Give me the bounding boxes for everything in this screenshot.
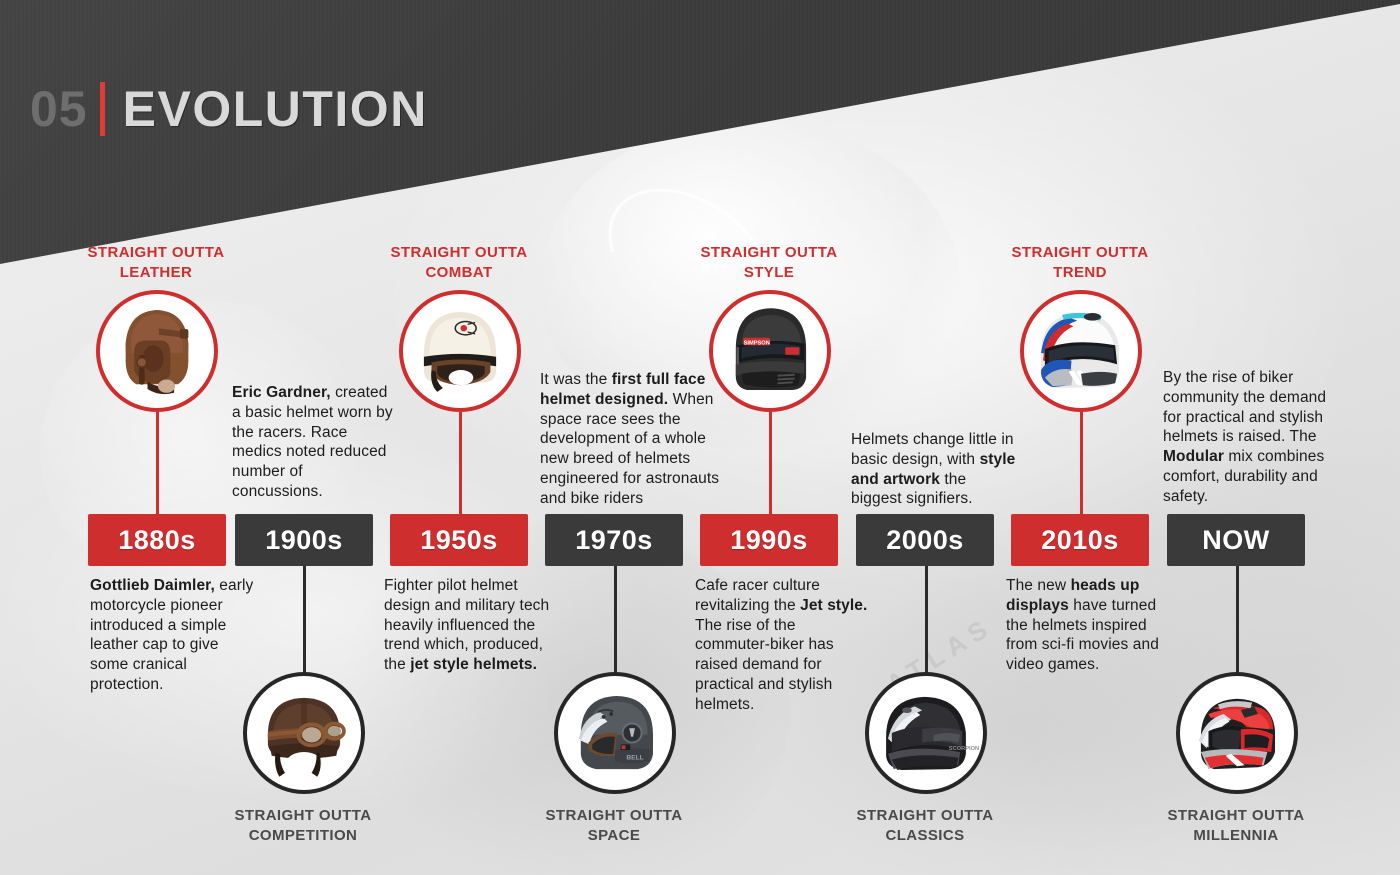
era-1880s[interactable]: 1880s	[88, 514, 226, 566]
paragraph-2010s: The new heads up displays have turned th…	[1006, 576, 1181, 675]
grey-retro-full-face-helmet-icon: BELL	[558, 676, 672, 790]
era-1950s[interactable]: 1950s	[390, 514, 528, 566]
helmet-circle-space[interactable]: BELL	[554, 672, 676, 794]
blue-white-sport-touring-helmet-icon	[1024, 294, 1138, 408]
helmet-circle-millennia[interactable]	[1176, 672, 1298, 794]
top-caption-leather: STRAIGHT OUTTA LEATHER	[56, 243, 256, 282]
page-title: EVOLUTION	[123, 84, 428, 134]
svg-text:BELL: BELL	[626, 755, 643, 762]
connector-trend-to-2010s	[1080, 412, 1083, 514]
svg-text:SCORPION: SCORPION	[949, 746, 979, 752]
connector-now-to-millennia	[1236, 566, 1239, 674]
red-adventure-dual-sport-helmet-icon	[1180, 676, 1294, 790]
era-1990s[interactable]: 1990s	[700, 514, 838, 566]
era-now[interactable]: NOW	[1167, 514, 1305, 566]
bottom-caption-millennia: STRAIGHT OUTTA MILLENNIA	[1136, 806, 1336, 845]
top-caption-combat: STRAIGHT OUTTA COMBAT	[359, 243, 559, 282]
black-sport-full-face-helmet-icon: SCORPION	[869, 676, 983, 790]
era-2000s[interactable]: 2000s	[856, 514, 994, 566]
paragraph-1900s: Eric Gardner, created a basic helmet wor…	[232, 383, 397, 502]
paragraph-1990s: Cafe racer culture revitalizing the Jet …	[695, 576, 870, 715]
era-1900s[interactable]: 1900s	[235, 514, 373, 566]
brown-goggles-half-helmet-icon	[247, 676, 361, 790]
connector-combat-to-1950s	[459, 412, 462, 514]
section-number: 05	[30, 84, 88, 134]
svg-text:SIMPSON: SIMPSON	[744, 340, 770, 346]
cream-open-face-helmet-icon	[403, 294, 517, 408]
paragraph-1880s: Gottlieb Daimler, early motorcycle pione…	[90, 576, 255, 695]
top-caption-trend: STRAIGHT OUTTA TREND	[980, 243, 1180, 282]
bottom-caption-competition: STRAIGHT OUTTA COMPETITION	[203, 806, 403, 845]
helmet-circle-classics[interactable]: SCORPION	[865, 672, 987, 794]
paragraph-1950s: It was the first full face helmet design…	[540, 370, 735, 509]
connector-leather-to-1880s	[156, 412, 159, 514]
era-1970s[interactable]: 1970s	[545, 514, 683, 566]
bottom-caption-classics: STRAIGHT OUTTA CLASSICS	[825, 806, 1025, 845]
title-divider	[100, 82, 105, 136]
era-2010s[interactable]: 2010s	[1011, 514, 1149, 566]
black-racing-full-face-helmet-icon: SIMPSON	[713, 294, 827, 408]
connector-1900s-to-competition	[303, 566, 306, 674]
bottom-caption-space: STRAIGHT OUTTA SPACE	[514, 806, 714, 845]
connector-2000s-to-classics	[925, 566, 928, 674]
paragraph-now: By the rise of biker community the deman…	[1163, 368, 1338, 507]
helmet-circle-combat[interactable]	[399, 290, 521, 412]
leather-flying-cap-helmet-icon	[100, 294, 214, 408]
connector-style-to-1990s	[769, 412, 772, 514]
helmet-circle-style[interactable]: SIMPSON	[709, 290, 831, 412]
helmet-circle-leather[interactable]	[96, 290, 218, 412]
connector-1970s-to-space	[614, 566, 617, 674]
helmet-circle-competition[interactable]	[243, 672, 365, 794]
top-caption-style: STRAIGHT OUTTA STYLE	[669, 243, 869, 282]
paragraph-2000s: Helmets change little in basic design, w…	[851, 430, 1016, 509]
page-title-group: 05 EVOLUTION	[30, 82, 428, 136]
helmet-circle-trend[interactable]	[1020, 290, 1142, 412]
paragraph-1970s: Fighter pilot helmet design and military…	[384, 576, 564, 675]
infographic-canvas: ATLAS ATLAS 05 EVOLUTION STRAIGHT OUTTA …	[0, 0, 1400, 875]
